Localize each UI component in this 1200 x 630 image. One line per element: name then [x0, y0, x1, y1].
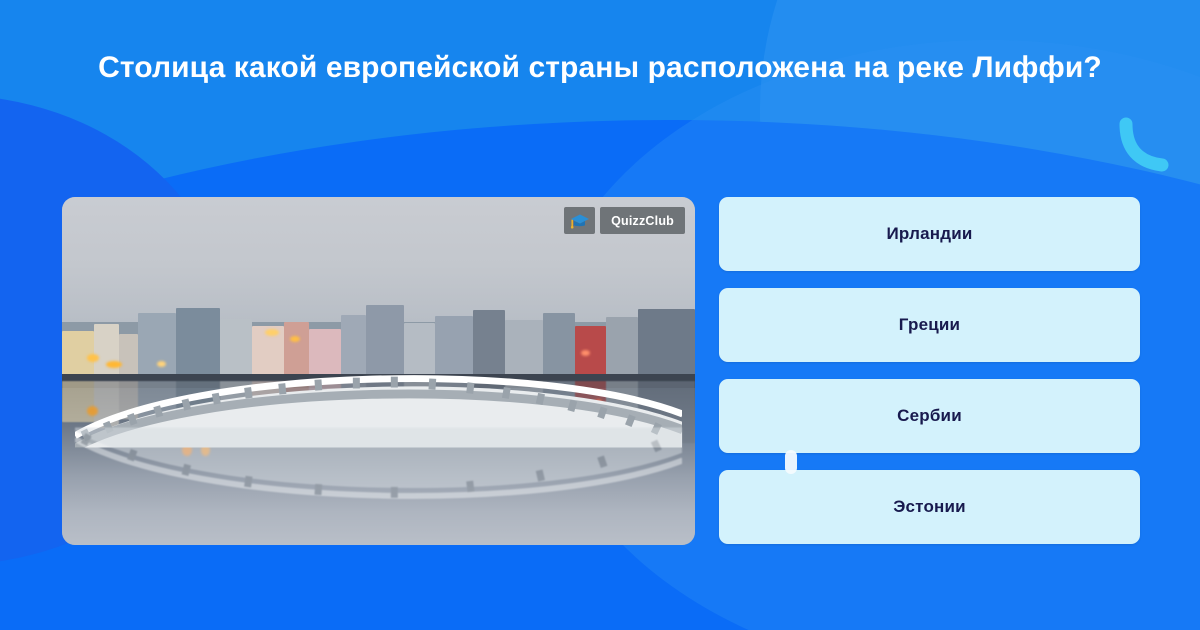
- answer-label: Греции: [899, 315, 960, 335]
- answer-label: Сербии: [897, 406, 962, 426]
- answer-label: Ирландии: [887, 224, 973, 244]
- answer-option-4[interactable]: Эстонии: [719, 470, 1140, 544]
- watermark-brand: QuizzClub: [600, 207, 685, 234]
- scroll-handle[interactable]: [785, 450, 797, 474]
- crescent-accent-icon: [1118, 118, 1172, 172]
- answer-option-2[interactable]: Греции: [719, 288, 1140, 362]
- watermark: QuizzClub: [564, 207, 685, 234]
- answer-option-1[interactable]: Ирландии: [719, 197, 1140, 271]
- photo-scene: QuizzClub: [62, 197, 695, 545]
- quiz-card: Столица какой европейской страны располо…: [0, 0, 1200, 630]
- question-text: Столица какой европейской страны располо…: [60, 45, 1140, 90]
- photo-bridge-reflection: [75, 427, 683, 517]
- photo-light: [265, 329, 279, 336]
- question-image: QuizzClub: [62, 197, 695, 545]
- graduation-cap-icon: [564, 207, 595, 234]
- answer-list: Ирландии Греции Сербии Эстонии: [719, 197, 1140, 544]
- answer-label: Эстонии: [893, 497, 966, 517]
- answer-option-3[interactable]: Сербии: [719, 379, 1140, 453]
